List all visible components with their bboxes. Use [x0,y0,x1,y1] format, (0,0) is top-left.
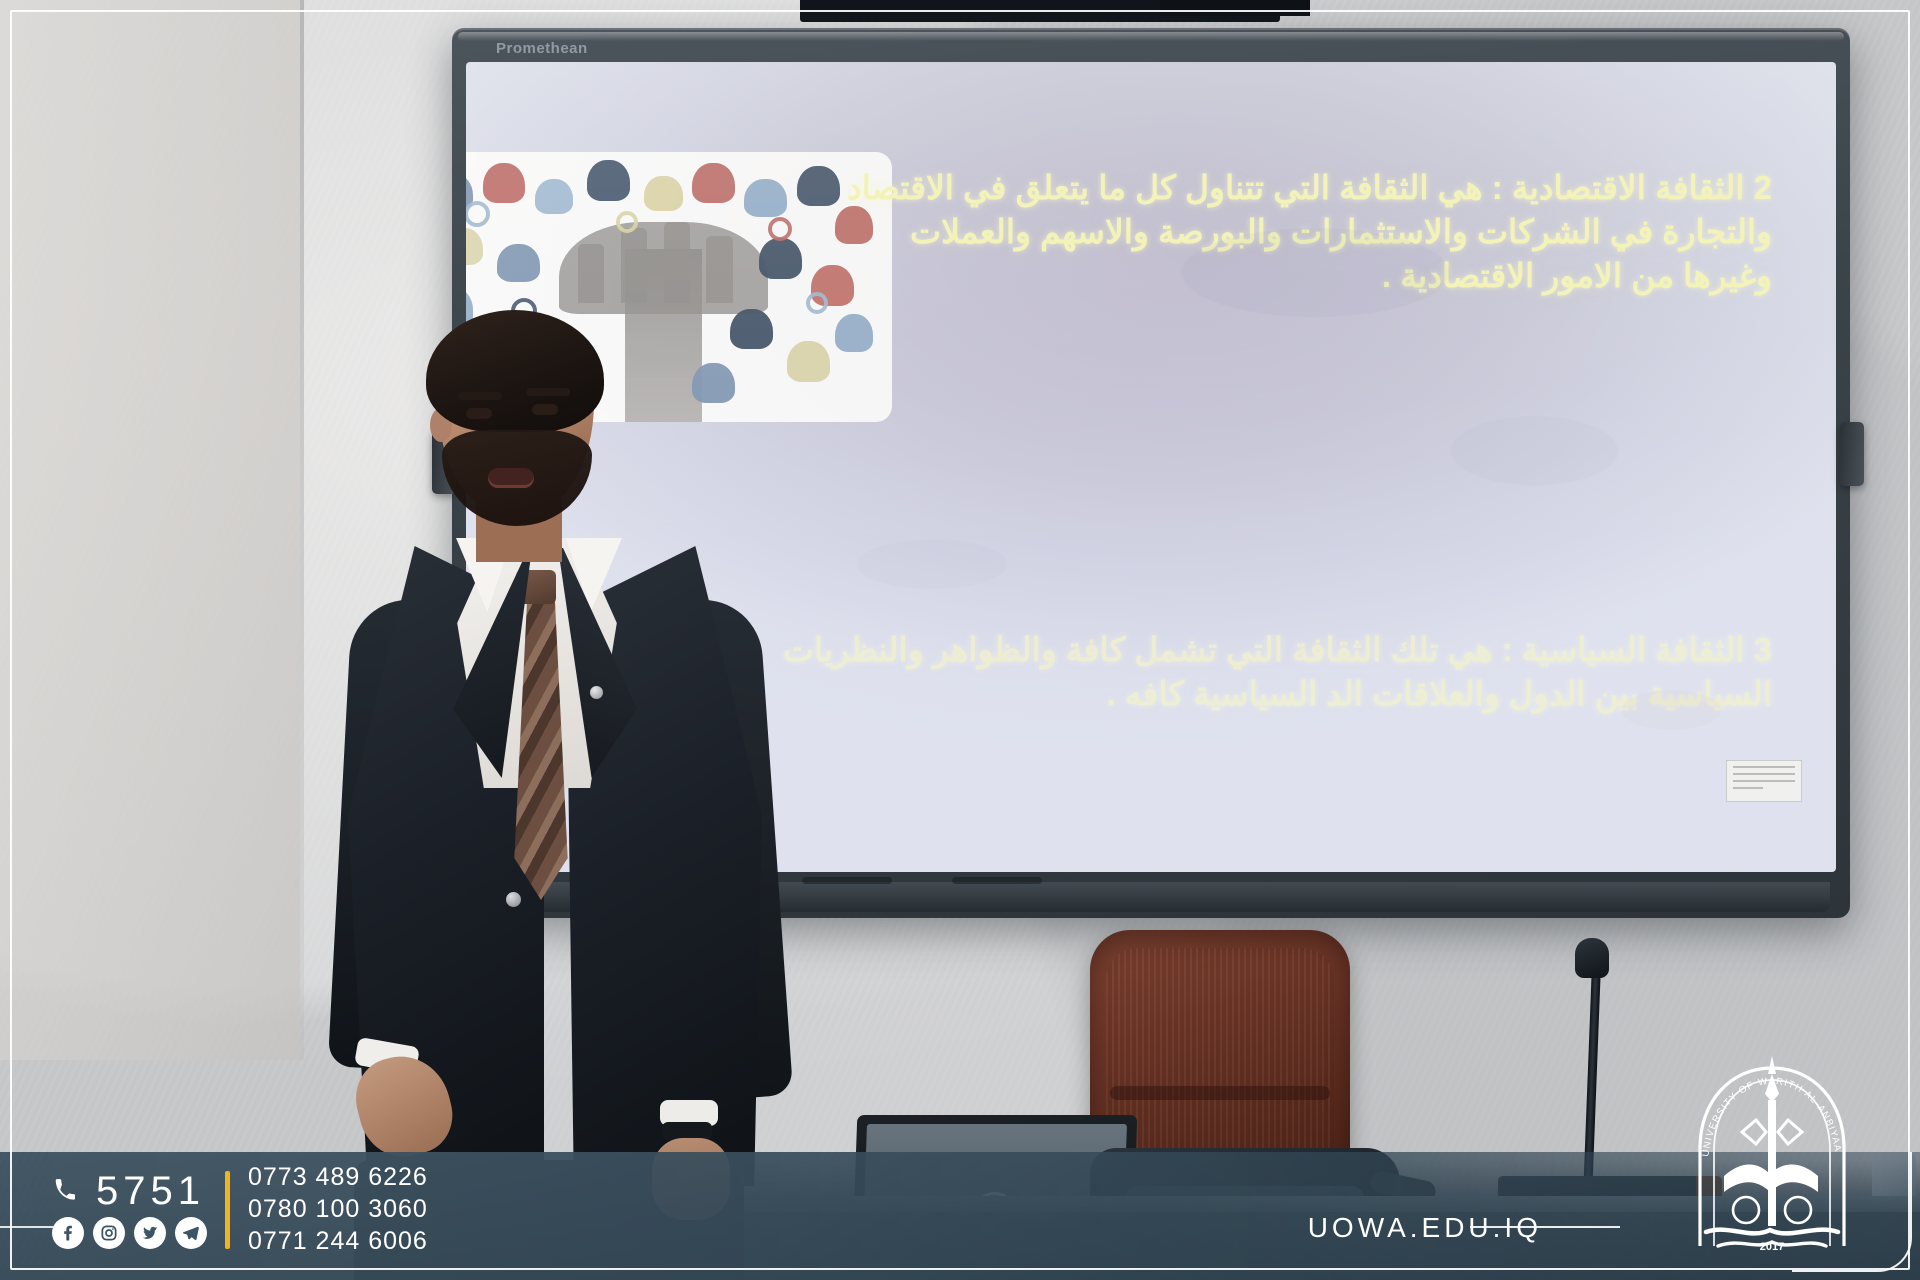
photo-canvas: Promethean [0,0,1920,1280]
wall-left-panel [0,0,300,1060]
facebook-icon[interactable] [52,1217,84,1249]
presenter-hair [426,310,604,432]
footer-rule-right [1470,1226,1620,1228]
phone-number: 0780 100 3060 [248,1195,428,1224]
handprint [835,206,873,244]
lapel-pin [590,686,603,699]
tree-finger [621,228,647,304]
footer-rule-left [0,1226,62,1228]
microphone-capsule [1575,938,1609,978]
spiral-motif [616,211,638,233]
whiteboard-brand-label: Promethean [496,40,588,57]
whiteboard-mount-bracket-right [1840,422,1864,486]
phone-numbers-list: 0773 489 6226 0780 100 3060 0771 244 600… [248,1163,428,1256]
website-url[interactable]: UOWA.EDU.IQ [1308,1212,1542,1244]
contact-block: 5751 0773 489 62 [52,1163,428,1256]
wall-seam [300,0,304,1060]
tree-finger [578,244,604,303]
crest-year: 2017 [1760,1241,1784,1253]
slide-paragraph-political-culture: 3 الثقافة السياسية : هي تلك الثقافة التي… [772,628,1772,716]
presenter-eyebrow [526,388,570,396]
presenter-mouth [488,468,534,488]
presenter-person [330,300,850,1280]
tree-finger [664,222,690,303]
telegram-icon[interactable] [175,1217,207,1249]
presenter-eye [532,404,558,415]
whiteboard-service-label [1726,760,1802,802]
presenter-eye [466,408,492,419]
university-crest: UNIVERSITY OF WARITH AL-ANBIYAA 2017 [1684,1050,1860,1256]
extension-number: 5751 [96,1171,205,1211]
handprint [587,160,630,201]
handprint [797,166,840,207]
handprint [483,163,526,204]
accent-divider [225,1171,230,1249]
jacket-button [506,892,521,907]
handprint [535,179,573,214]
handprint [466,228,483,266]
slide-paragraph-economic-culture: 2 الثقافة الاقتصادية : هي الثقافة التي ت… [832,166,1772,299]
handprint [644,176,682,211]
handprint [497,244,540,282]
twitter-icon[interactable] [134,1217,166,1249]
office-chair-seam [1110,1086,1330,1100]
tree-finger [706,236,732,304]
handprint [744,179,787,217]
handprint [692,163,735,204]
presenter-eyebrow [458,392,502,400]
spiral-motif [768,217,792,241]
phone-icon [52,1176,82,1206]
instagram-icon[interactable] [93,1217,125,1249]
phone-number: 0773 489 6226 [248,1163,428,1192]
spiral-motif [466,201,490,227]
social-icons [52,1217,207,1249]
projector-mount-shadow [1160,0,1310,16]
handprint [759,238,802,279]
handprint [466,174,473,212]
phone-number: 0771 244 6006 [248,1227,428,1256]
